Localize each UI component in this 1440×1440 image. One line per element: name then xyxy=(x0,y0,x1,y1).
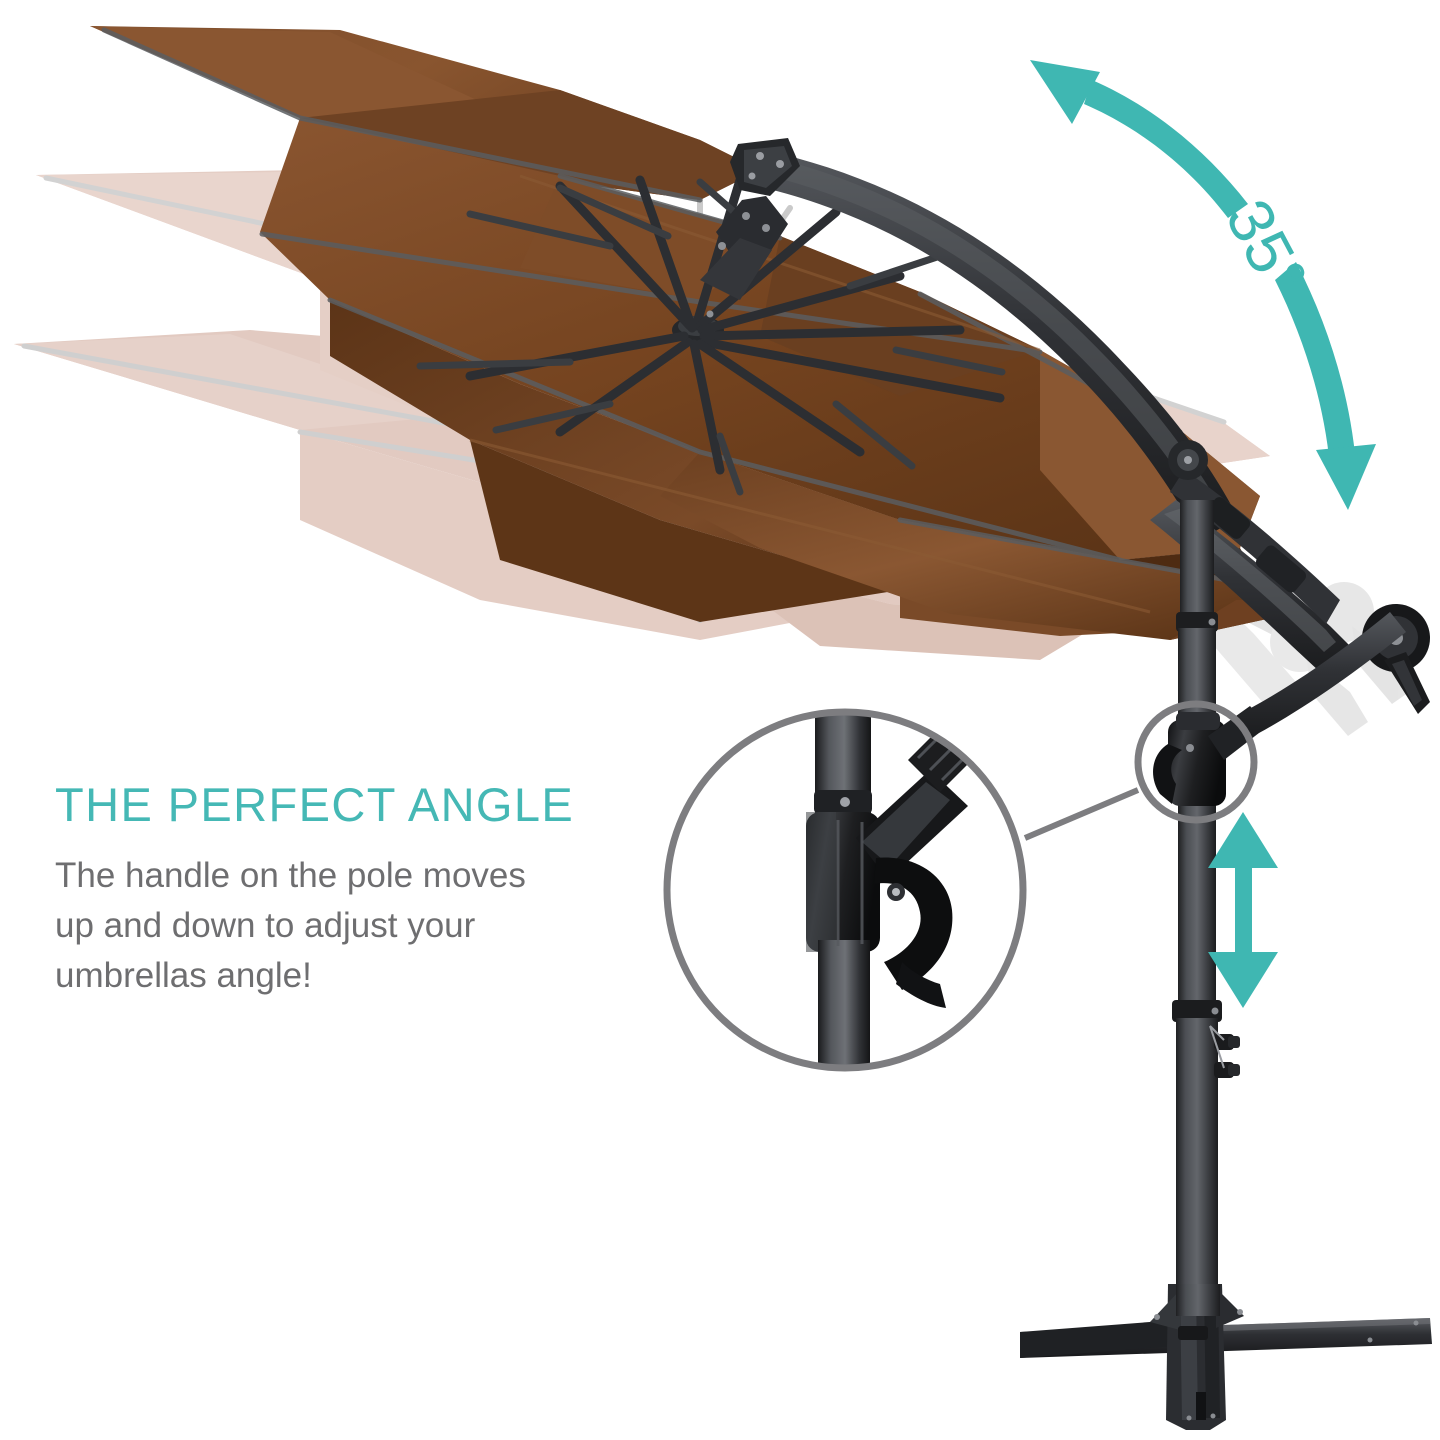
cross-base xyxy=(1020,1284,1432,1430)
description-line-2: up and down to adjust your xyxy=(55,901,665,951)
page-title: THE PERFECT ANGLE xyxy=(55,780,665,829)
height-adjust-arrow xyxy=(1208,812,1278,1008)
product-illustration: 35° xyxy=(0,0,1440,1440)
description-line-3: umbrellas angle! xyxy=(55,951,665,1001)
callout-leader-line xyxy=(1025,790,1138,838)
infographic-canvas: 35° THE PERFECT ANGLE The handle on the … xyxy=(0,0,1440,1440)
text-block: THE PERFECT ANGLE The handle on the pole… xyxy=(55,780,665,1000)
magnifier-detail xyxy=(660,634,1050,1090)
description-text: The handle on the pole moves up and down… xyxy=(55,851,665,1000)
description-line-1: The handle on the pole moves xyxy=(55,851,665,901)
